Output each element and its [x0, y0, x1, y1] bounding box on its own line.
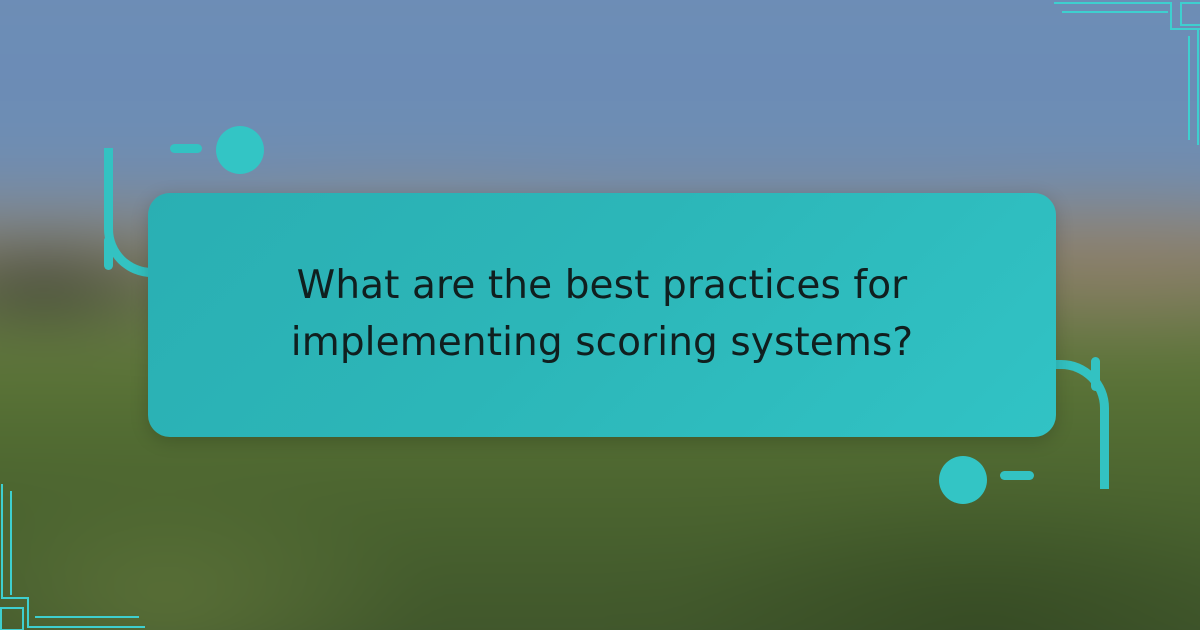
question-card: What are the best practices for implemen…	[148, 193, 1056, 437]
elbow-cap-top	[1091, 357, 1100, 391]
elbow-cap-left	[1000, 471, 1034, 480]
elbow-cap-top	[170, 144, 202, 153]
elbow-cap-bottom	[104, 236, 113, 270]
top-left-circle-node	[216, 126, 264, 174]
bottom-right-circle-node	[939, 456, 987, 504]
question-text: What are the best practices for implemen…	[208, 258, 996, 372]
social-card-canvas: What are the best practices for implemen…	[0, 0, 1200, 630]
